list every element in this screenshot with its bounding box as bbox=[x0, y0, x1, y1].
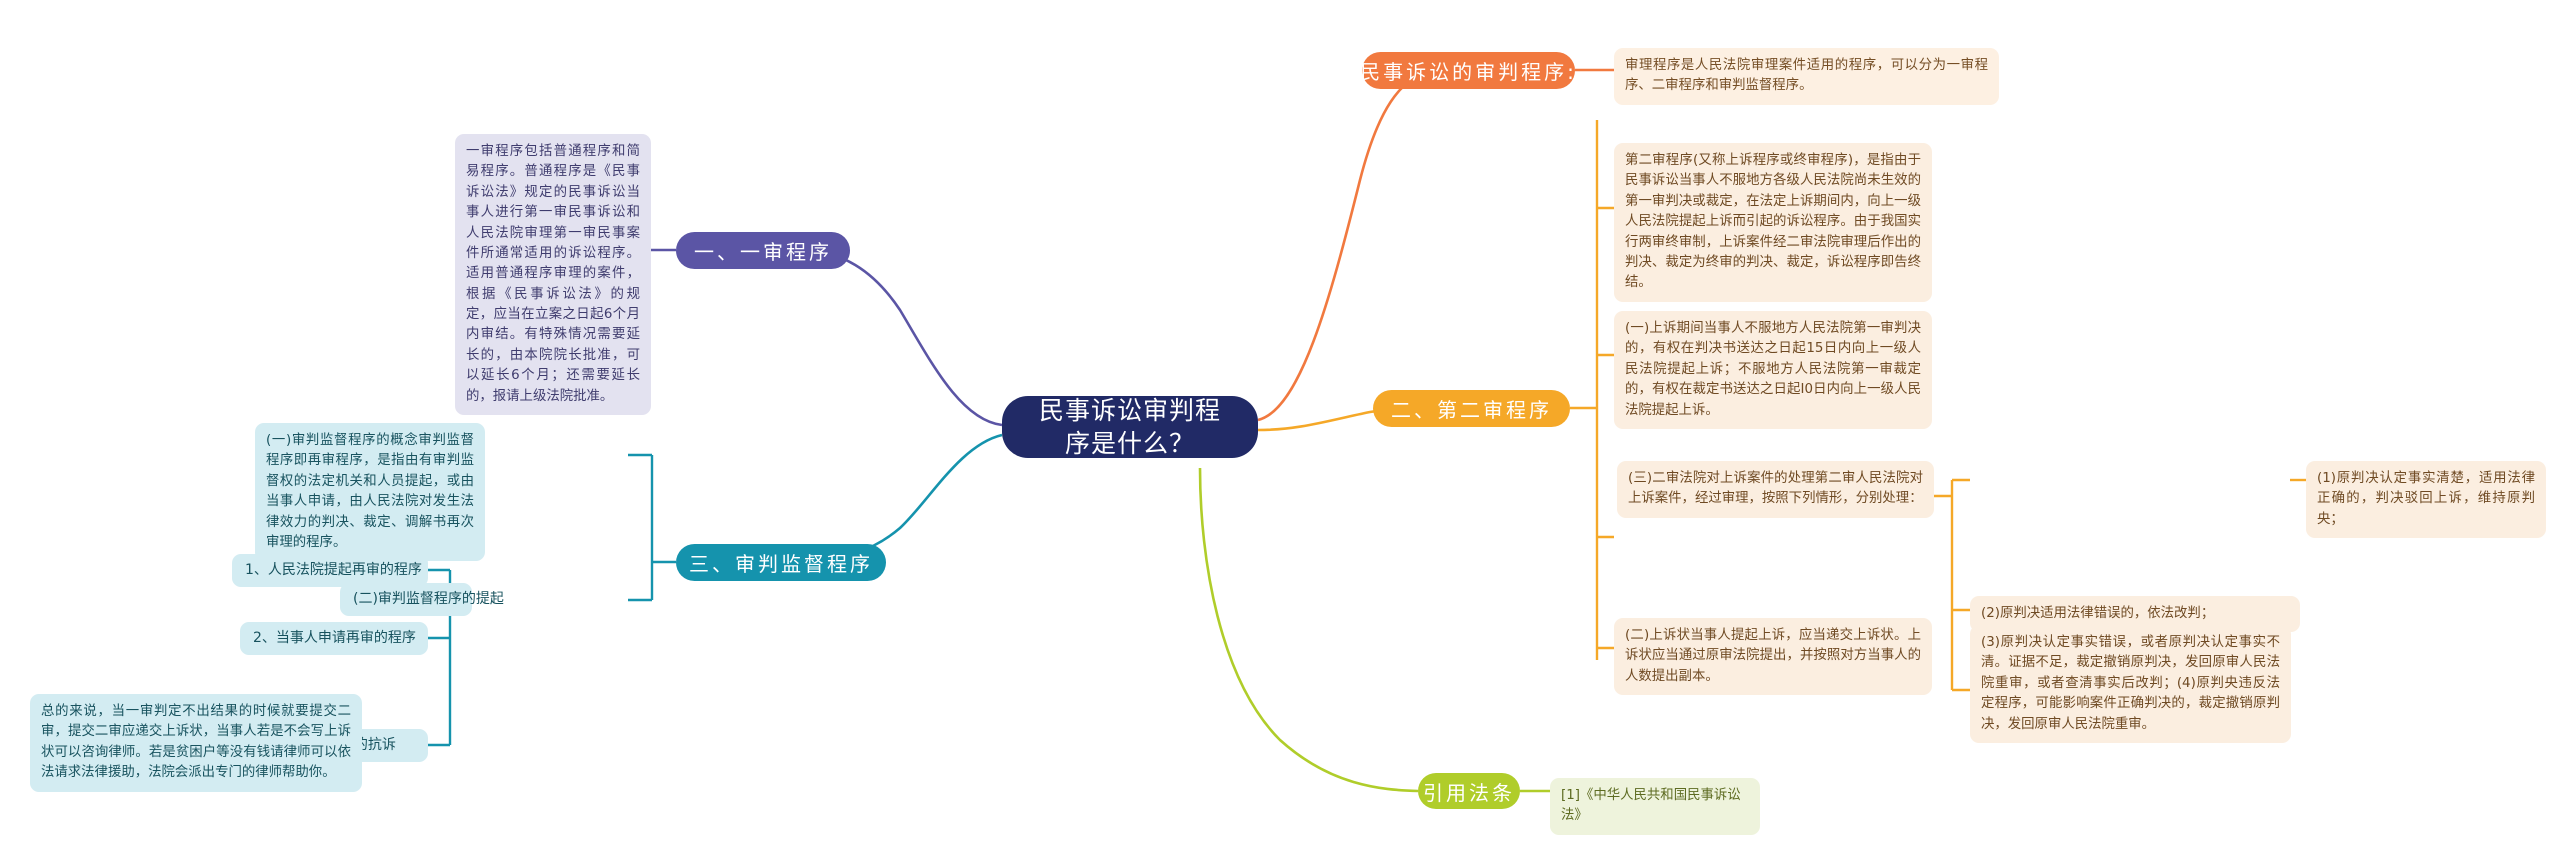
leaf-initiation-by-party[interactable]: 2、当事人申请再审的程序 bbox=[240, 622, 428, 655]
central-node[interactable]: 民事诉讼审判程序是什么？ bbox=[1002, 396, 1258, 458]
leaf-text: 2、当事人申请再审的程序 bbox=[253, 628, 416, 649]
leaf-supervision-concept[interactable]: (一)审判监督程序的概念审判监督程序即再审程序，是指由有审判监督权的法定机关和人… bbox=[255, 423, 485, 561]
leaf-text: 1、人民法院提起再审的程序 bbox=[245, 560, 422, 581]
leaf-text: (1)原判决认定事实清楚，适用法律正确的，判决驳回上诉，维持原判央； bbox=[2317, 471, 2535, 527]
branch-citations[interactable]: 引用法条 bbox=[1418, 773, 1520, 809]
leaf-citation-1[interactable]: [1]《中华人民共和国民事诉讼法》 bbox=[1550, 778, 1760, 835]
branch-trial-procedure-label: 民事诉讼的审判程序: bbox=[1360, 56, 1577, 85]
leaf-text: (一)审判监督程序的概念审判监督程序即再审程序，是指由有审判监督权的法定机关和人… bbox=[266, 433, 474, 550]
leaf-text: (一)上诉期间当事人不服地方人民法院第一审判决的，有权在判决书送达之日起15日内… bbox=[1625, 321, 1921, 418]
branch-supervision-label: 三、审判监督程序 bbox=[689, 548, 873, 577]
leaf-text: [1]《中华人民共和国民事诉讼法》 bbox=[1561, 788, 1741, 823]
branch-citations-label: 引用法条 bbox=[1423, 777, 1515, 806]
leaf-initiation-by-court[interactable]: 1、人民法院提起再审的程序 bbox=[232, 554, 428, 587]
leaf-handling-case-3[interactable]: (3)原判决认定事实错误，或者原判决认定事实不清。证据不足，裁定撤销原判决，发回… bbox=[1970, 625, 2291, 743]
leaf-text: (二)审判监督程序的提起 bbox=[353, 589, 504, 610]
leaf-second-instance-item-3[interactable]: (三)二审法院对上诉案件的处理第二审人民法院对上诉案件，经过审理，按照下列情形，… bbox=[1617, 461, 1934, 518]
leaf-overall-summary[interactable]: 总的来说，当一审判定不出结果的时候就要提交二审，提交二审应递交上诉状，当事人若是… bbox=[30, 694, 362, 792]
branch-trial-procedure[interactable]: 民事诉讼的审判程序: bbox=[1362, 52, 1575, 89]
branch-second-instance[interactable]: 二、第二审程序 bbox=[1373, 390, 1570, 427]
leaf-text: (二)上诉状当事人提起上诉，应当递交上诉状。上诉状应当通过原审法院提出，并按照对… bbox=[1625, 628, 1921, 684]
leaf-text: (三)二审法院对上诉案件的处理第二审人民法院对上诉案件，经过审理，按照下列情形，… bbox=[1628, 471, 1923, 506]
leaf-trial-procedure-desc[interactable]: 审理程序是人民法院审理案件适用的程序，可以分为一审程序、二审程序和审判监督程序。 bbox=[1614, 48, 1999, 105]
leaf-text: 审理程序是人民法院审理案件适用的程序，可以分为一审程序、二审程序和审判监督程序。 bbox=[1625, 58, 1988, 93]
mindmap-canvas: 民事诉讼审判程序是什么？ 民事诉讼的审判程序: 审理程序是人民法院审理案件适用的… bbox=[0, 0, 2560, 865]
leaf-text: 总的来说，当一审判定不出结果的时候就要提交二审，提交二审应递交上诉状，当事人若是… bbox=[41, 704, 351, 780]
leaf-first-instance-desc[interactable]: 一审程序包括普通程序和简易程序。普通程序是《民事诉讼法》规定的民事诉讼当事人进行… bbox=[455, 134, 651, 415]
leaf-second-instance-item-1[interactable]: (一)上诉期间当事人不服地方人民法院第一审判决的，有权在判决书送达之日起15日内… bbox=[1614, 311, 1932, 429]
leaf-supervision-initiation[interactable]: (二)审判监督程序的提起 bbox=[340, 583, 472, 616]
leaf-text: (2)原判决适用法律错误的，依法改判； bbox=[1981, 606, 2214, 621]
leaf-text: 一审程序包括普通程序和简易程序。普通程序是《民事诉讼法》规定的民事诉讼当事人进行… bbox=[466, 144, 640, 404]
leaf-second-instance-item-2[interactable]: (二)上诉状当事人提起上诉，应当递交上诉状。上诉状应当通过原审法院提出，并按照对… bbox=[1614, 618, 1932, 695]
leaf-text: 第二审程序(又称上诉程序或终审程序)，是指由于民事诉讼当事人不服地方各级人民法院… bbox=[1625, 153, 1921, 290]
leaf-text: (3)原判决认定事实错误，或者原判决认定事实不清。证据不足，裁定撤销原判决，发回… bbox=[1981, 635, 2280, 732]
branch-first-instance[interactable]: 一、一审程序 bbox=[676, 232, 850, 269]
central-node-title: 民事诉讼审判程序是什么？ bbox=[1028, 394, 1232, 460]
leaf-handling-case-1[interactable]: (1)原判决认定事实清楚，适用法律正确的，判决驳回上诉，维持原判央； bbox=[2306, 461, 2546, 538]
branch-first-instance-label: 一、一审程序 bbox=[694, 236, 832, 265]
branch-second-instance-label: 二、第二审程序 bbox=[1391, 394, 1552, 423]
branch-supervision[interactable]: 三、审判监督程序 bbox=[676, 544, 886, 581]
leaf-second-instance-definition[interactable]: 第二审程序(又称上诉程序或终审程序)，是指由于民事诉讼当事人不服地方各级人民法院… bbox=[1614, 143, 1932, 302]
